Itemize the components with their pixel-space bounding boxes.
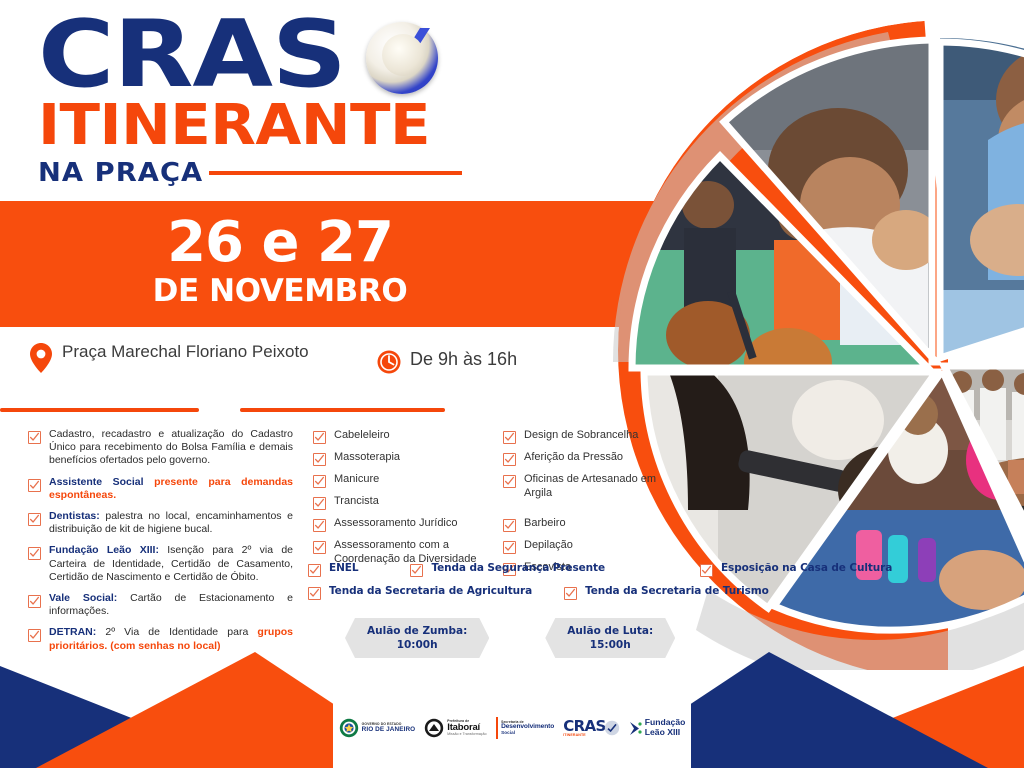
clock-icon xyxy=(376,349,402,375)
list-item-label: Assessoramento Jurídico xyxy=(334,516,458,530)
checkbox-checked-icon xyxy=(503,541,516,554)
service-item-col2-5: Assessoramento Jurídico xyxy=(313,516,498,532)
list-item-label: Barbeiro xyxy=(524,516,566,530)
partners-section: ENELTenda da Segurança PresenteEsposição… xyxy=(308,562,908,608)
text-run: Vale Social: xyxy=(49,592,117,604)
checkbox-checked-icon xyxy=(28,513,41,526)
leao-xiii-mark-icon xyxy=(629,721,642,736)
rio-logo-text: GOVERNO DO ESTADORIO DE JANEIRO xyxy=(362,723,416,733)
cras-line1: CRAS xyxy=(563,719,606,734)
checkbox-checked-icon xyxy=(28,479,41,492)
map-pin-icon xyxy=(28,342,54,374)
checkbox-checked-icon xyxy=(313,475,326,488)
class-chip-title: Aulão de Luta: xyxy=(567,624,653,638)
list-item-label: Cadastro, recadastro e atualização do Ca… xyxy=(49,428,293,468)
checkbox-checked-icon xyxy=(313,497,326,510)
checkbox-checked-icon xyxy=(313,431,326,444)
text-run: Cadastro, recadastro e atualização do Ca… xyxy=(49,428,293,466)
divider-rule-right xyxy=(240,408,445,412)
cras-logo-text: CRASITINERANTE xyxy=(563,719,606,738)
partner-label: Tenda da Segurança Presente xyxy=(431,562,605,575)
checkbox-checked-icon xyxy=(503,475,516,488)
checkbox-checked-icon xyxy=(28,595,41,608)
itaborai-line3: Missão e Transformação xyxy=(447,733,486,736)
partner-item: Tenda da Secretaria de Agricultura xyxy=(308,585,532,600)
desenvolvimento-logo-text: Secretaria deDesenvolvimentoSocial xyxy=(501,721,554,736)
partners-row-2: Tenda da Secretaria de AgriculturaTenda … xyxy=(308,585,908,600)
checkbox-checked-icon xyxy=(313,541,326,554)
checkbox-checked-icon xyxy=(410,564,423,577)
partner-label: Tenda da Secretaria de Turismo xyxy=(585,585,769,598)
list-item-label: Oficinas de Artesanado em Argila xyxy=(524,472,683,500)
service-item-col3a-1: Design de Sobrancelha xyxy=(503,428,683,444)
list-item-label: Assistente Social presente para demandas… xyxy=(49,476,293,502)
logo-na-praca-text: NA PRAÇA xyxy=(38,158,203,188)
checkmark-icon xyxy=(376,26,436,88)
checkbox-checked-icon xyxy=(564,587,577,600)
service-item-1: Cadastro, recadastro e atualização do Ca… xyxy=(28,428,293,468)
checkbox-checked-icon xyxy=(503,519,516,532)
list-item-label: Trancista xyxy=(334,494,379,508)
service-item-3: Dentistas: palestra no local, encaminham… xyxy=(28,510,293,536)
list-item-label: Vale Social: Cartão de Estacionamento e … xyxy=(49,592,293,618)
event-month: DE NOVEMBRO xyxy=(0,274,560,308)
list-item-label: Depilação xyxy=(524,538,573,552)
logo-cras-text: CRAS xyxy=(38,14,520,94)
cras-badge-icon xyxy=(604,720,620,736)
governo-rio-de-janeiro-logo: GOVERNO DO ESTADORIO DE JANEIRO xyxy=(339,718,416,738)
partner-label: Tenda da Secretaria de Agricultura xyxy=(329,585,532,598)
rio-crest-icon xyxy=(339,718,359,738)
list-item-label: Design de Sobrancelha xyxy=(524,428,638,442)
partner-item: Tenda da Secretaria de Turismo xyxy=(564,585,769,600)
service-item-col3a-3: Oficinas de Artesanado em Argila xyxy=(503,472,683,500)
logo-underline-rule xyxy=(209,171,462,175)
cras-line2: ITINERANTE xyxy=(563,734,606,738)
list-item-label: Manicure xyxy=(334,472,379,486)
text-run: Dentistas: xyxy=(49,510,100,522)
list-item-label: Fundação Leão XIII: Isenção para 2º via … xyxy=(49,544,293,584)
service-item-col2-1: Cabeleleiro xyxy=(313,428,498,444)
itaborai-crest-icon xyxy=(424,718,444,738)
rio-line2: RIO DE JANEIRO xyxy=(362,727,416,733)
checkbox-checked-icon xyxy=(503,431,516,444)
partner-item: Esposição na Casa de Cultura xyxy=(700,562,892,577)
venue-text: Praça Marechal Floriano Peixoto xyxy=(62,341,309,362)
event-info-row: Praça Marechal Floriano Peixoto De 9h às… xyxy=(28,341,648,375)
checkbox-checked-icon xyxy=(308,587,321,600)
service-item-2: Assistente Social presente para demandas… xyxy=(28,476,293,502)
logo-itinerante-text: ITINERANTE xyxy=(38,100,494,152)
checkbox-checked-icon xyxy=(313,519,326,532)
footer-logo-card: GOVERNO DO ESTADORIO DE JANEIROPrefeitur… xyxy=(333,686,691,768)
venue-info: Praça Marechal Floriano Peixoto xyxy=(28,341,328,374)
service-item-col3b-2: Depilação xyxy=(503,538,683,554)
orange-separator-bar xyxy=(496,717,499,739)
services-column-1: Cadastro, recadastro e atualização do Ca… xyxy=(28,428,293,661)
class-chip-title: Aulão de Zumba: xyxy=(367,624,467,638)
partner-item: ENEL xyxy=(308,562,358,577)
service-item-4: Fundação Leão XIII: Isenção para 2º via … xyxy=(28,544,293,584)
desenv-line3: Social xyxy=(501,731,554,736)
check-badge-icon xyxy=(366,22,438,94)
cras-logo: CRASITINERANTE xyxy=(563,719,620,738)
service-item-col3b-1: Barbeiro xyxy=(503,516,683,532)
checkbox-checked-icon xyxy=(503,453,516,466)
checkbox-checked-icon xyxy=(313,453,326,466)
list-item-label: Dentistas: palestra no local, encaminham… xyxy=(49,510,293,536)
partner-item: Tenda da Segurança Presente xyxy=(410,562,605,577)
partner-label: Esposição na Casa de Cultura xyxy=(721,562,892,575)
list-item-label: Cabeleleiro xyxy=(334,428,390,442)
group-spacer xyxy=(503,506,683,516)
checkbox-checked-icon xyxy=(700,564,713,577)
text-run: Fundação Leão XIII: xyxy=(49,544,159,556)
text-run: Assistente Social xyxy=(49,476,154,488)
fundacao-leao-xiii-logo: FundaçãoLeão XIII xyxy=(629,718,686,737)
event-days: 26 e 27 xyxy=(0,214,560,272)
checkbox-checked-icon xyxy=(28,431,41,444)
service-item-5: Vale Social: Cartão de Estacionamento e … xyxy=(28,592,293,618)
time-text: De 9h às 16h xyxy=(410,341,517,370)
divider-rule-left xyxy=(0,408,199,412)
fundacao-logo-text: FundaçãoLeão XIII xyxy=(645,718,686,737)
checkbox-checked-icon xyxy=(308,564,321,577)
text-run: 2º Via de Identidade para xyxy=(96,626,257,638)
list-item-label: Aferição da Pressão xyxy=(524,450,623,464)
list-item-label: Massoterapia xyxy=(334,450,400,464)
event-date-block: 26 e 27 DE NOVEMBRO xyxy=(0,214,560,308)
service-item-col2-2: Massoterapia xyxy=(313,450,498,466)
service-item-col2-4: Trancista xyxy=(313,494,498,510)
fundacao-line2: Leão XIII xyxy=(645,728,686,738)
secretaria-desenvolvimento-social-logo: Secretaria deDesenvolvimentoSocial xyxy=(496,717,555,739)
service-item-col2-3: Manicure xyxy=(313,472,498,488)
service-item-col3a-2: Aferição da Pressão xyxy=(503,450,683,466)
partners-row-1: ENELTenda da Segurança PresenteEsposição… xyxy=(308,562,908,577)
partner-label: ENEL xyxy=(329,562,358,575)
poster-canvas: CRAS ITINERANTE NA PRAÇA 26 e 27 DE NOVE… xyxy=(0,0,1024,768)
checkbox-checked-icon xyxy=(28,547,41,560)
time-info: De 9h às 16h xyxy=(376,341,517,375)
prefeitura-itaborai-logo: Prefeitura deItaboraíMissão e Transforma… xyxy=(424,718,486,738)
text-run: DETRAN: xyxy=(49,626,96,638)
itaborai-logo-text: Prefeitura deItaboraíMissão e Transforma… xyxy=(447,720,486,736)
